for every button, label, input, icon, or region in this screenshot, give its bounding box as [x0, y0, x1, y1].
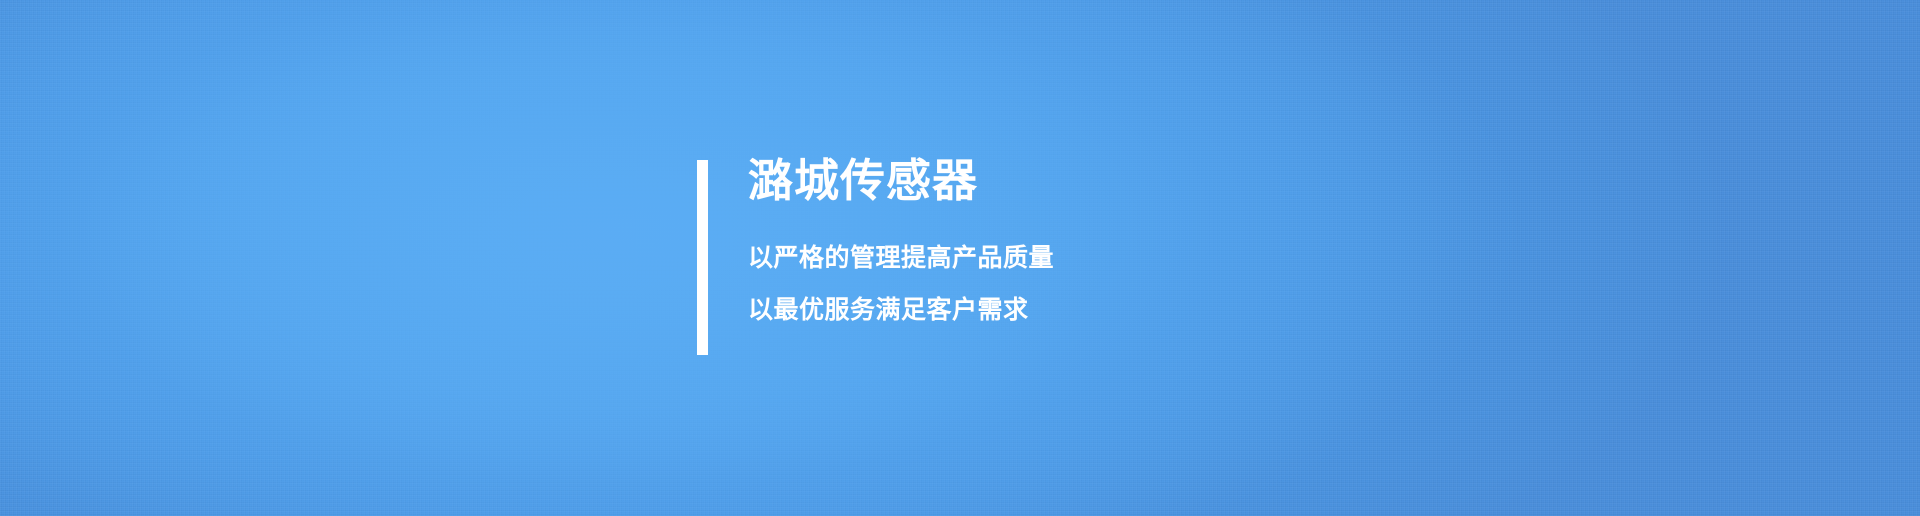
company-title: 潞城传感器	[748, 157, 1054, 205]
hero-subtitle-line-1: 以严格的管理提高产品质量	[748, 243, 1054, 273]
hero-text-block: 潞城传感器 以严格的管理提高产品质量 以最优服务满足客户需求	[748, 160, 1054, 355]
hero-banner: 潞城传感器 以严格的管理提高产品质量 以最优服务满足客户需求	[0, 0, 1920, 516]
vertical-accent-bar	[697, 160, 708, 355]
hero-content: 潞城传感器 以严格的管理提高产品质量 以最优服务满足客户需求	[697, 160, 1054, 355]
hero-subtitle-line-2: 以最优服务满足客户需求	[748, 295, 1054, 325]
